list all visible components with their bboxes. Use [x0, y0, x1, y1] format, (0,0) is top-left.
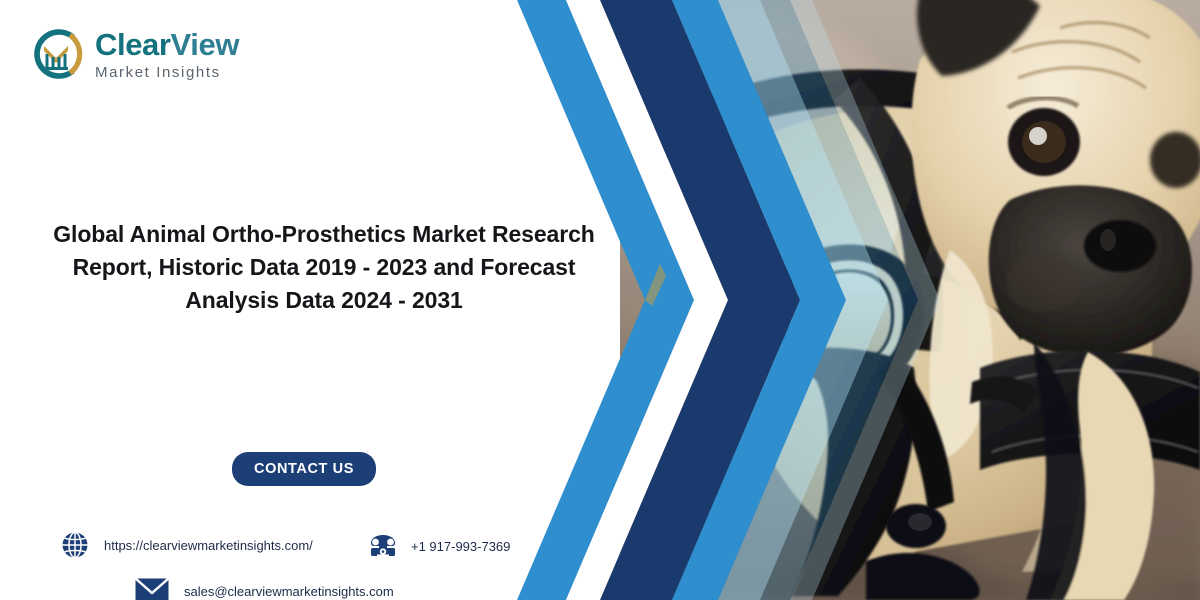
content-panel: ClearView Market Insights Global Animal … — [0, 0, 560, 600]
contact-website[interactable]: https://clearviewmarketinsights.com/ — [60, 530, 313, 560]
email-address: sales@clearviewmarketinsights.com — [184, 584, 394, 599]
brand-logo[interactable]: ClearView Market Insights — [26, 24, 239, 84]
contact-us-button[interactable]: CONTACT US — [232, 452, 376, 486]
envelope-icon — [135, 578, 169, 600]
contact-phone[interactable]: +1 917-993-7369 — [368, 531, 510, 561]
globe-icon — [60, 530, 90, 560]
brand-name-part1: Clear — [95, 27, 171, 62]
clearview-monogram-icon — [26, 24, 86, 84]
telephone-icon — [368, 531, 398, 561]
marketing-banner: ClearView Market Insights Global Animal … — [0, 0, 1200, 600]
phone-number: +1 917-993-7369 — [411, 539, 510, 554]
page-title: Global Animal Ortho-Prosthetics Market R… — [20, 218, 628, 317]
hero-photo — [620, 0, 1200, 600]
website-url: https://clearviewmarketinsights.com/ — [104, 538, 313, 553]
title-line-3: Analysis Data 2024 - 2031 — [185, 287, 463, 313]
brand-tagline: Market Insights — [95, 65, 239, 80]
title-line-1: Global Animal Ortho-Prosthetics Market R… — [53, 221, 594, 247]
brand-name-part2: View — [171, 27, 239, 62]
title-line-2: Report, Historic Data 2019 - 2023 and Fo… — [73, 254, 576, 280]
pug-dog-photo-illustration — [620, 0, 1200, 600]
contact-email[interactable]: sales@clearviewmarketinsights.com — [135, 578, 394, 600]
brand-name: ClearView — [95, 29, 239, 60]
